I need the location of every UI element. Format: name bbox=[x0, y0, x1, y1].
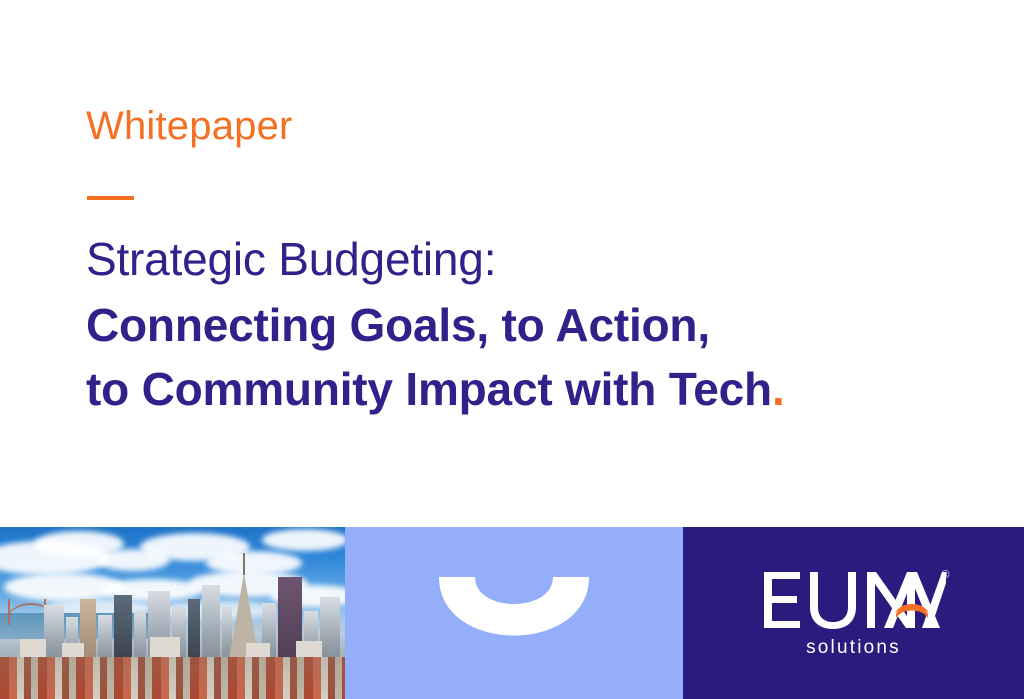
smile-arc-icon bbox=[435, 573, 593, 653]
page-title-accent-period: . bbox=[772, 363, 785, 415]
document-type-label: Whitepaper bbox=[86, 104, 293, 148]
cover-header-area: Whitepaper Strategic Budgeting: Connecti… bbox=[0, 0, 1024, 527]
whitepaper-cover-page: Whitepaper Strategic Budgeting: Connecti… bbox=[0, 0, 1024, 699]
euna-wordmark: ® bbox=[762, 569, 946, 636]
page-title-line-3: to Community Impact with Tech. bbox=[86, 366, 966, 412]
euna-solutions-logo: ® solutions bbox=[683, 569, 1024, 657]
brand-mark-panel bbox=[345, 527, 683, 699]
page-title-line-3-text: to Community Impact with Tech bbox=[86, 363, 772, 415]
brand-logo-panel: ® solutions bbox=[683, 527, 1024, 699]
euna-letter-a bbox=[884, 569, 940, 631]
page-title-line-1: Strategic Budgeting: bbox=[86, 236, 966, 282]
cityscape-photo bbox=[0, 527, 345, 699]
registered-trademark-icon: ® bbox=[941, 570, 949, 581]
footer-band: ® solutions bbox=[0, 527, 1024, 699]
page-title: Strategic Budgeting: Connecting Goals, t… bbox=[86, 236, 966, 412]
euna-tagline: solutions bbox=[806, 638, 901, 657]
page-title-line-2: Connecting Goals, to Action, bbox=[86, 302, 966, 348]
accent-divider-rule bbox=[87, 196, 134, 200]
